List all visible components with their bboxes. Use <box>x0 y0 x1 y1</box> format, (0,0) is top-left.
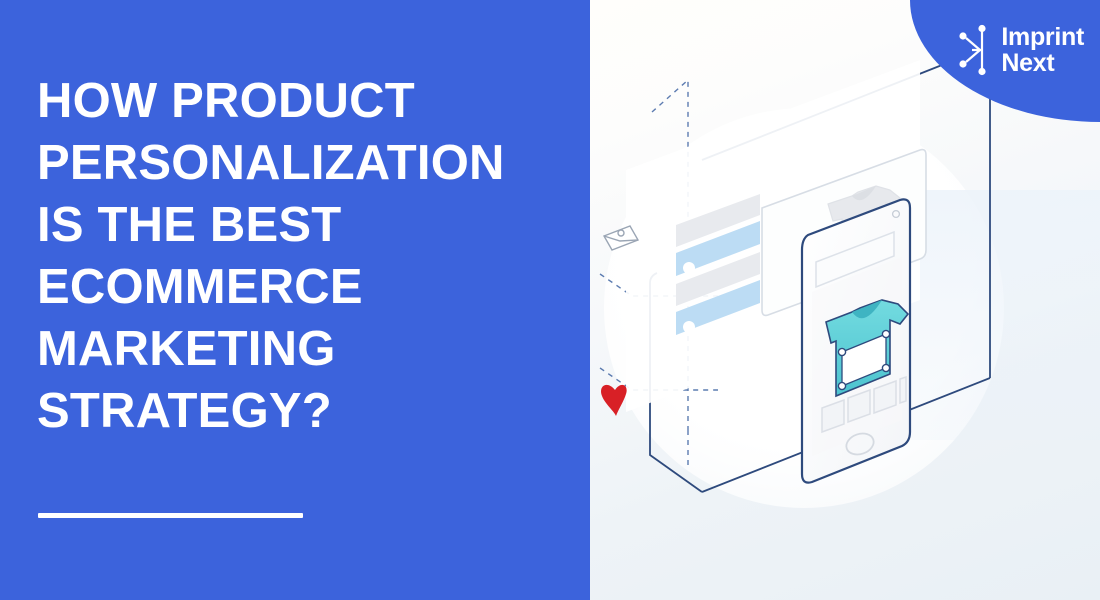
row-bullet-1 <box>683 262 695 274</box>
brand-name: Imprint Next <box>1001 24 1084 76</box>
thumbnail-4 <box>900 377 906 403</box>
brand-logo[interactable]: Imprint Next <box>952 22 1084 78</box>
row-bullet-2 <box>683 321 695 333</box>
imprint-next-node-icon <box>952 22 992 78</box>
heart-icon <box>601 385 627 416</box>
brand-name-line-1: Imprint <box>1001 23 1084 51</box>
handle-top-right <box>882 330 889 337</box>
page-title: HOW PRODUCT PERSONALIZATION IS THE BEST … <box>37 70 582 442</box>
handle-top-left <box>838 348 845 355</box>
promo-banner: HOW PRODUCT PERSONALIZATION IS THE BEST … <box>0 0 1100 600</box>
handle-bottom-right <box>882 364 889 371</box>
handle-bottom-left <box>838 382 845 389</box>
brand-name-line-2: Next <box>1001 50 1084 76</box>
title-underline-rule <box>38 513 303 518</box>
headline-panel: HOW PRODUCT PERSONALIZATION IS THE BEST … <box>0 0 590 600</box>
